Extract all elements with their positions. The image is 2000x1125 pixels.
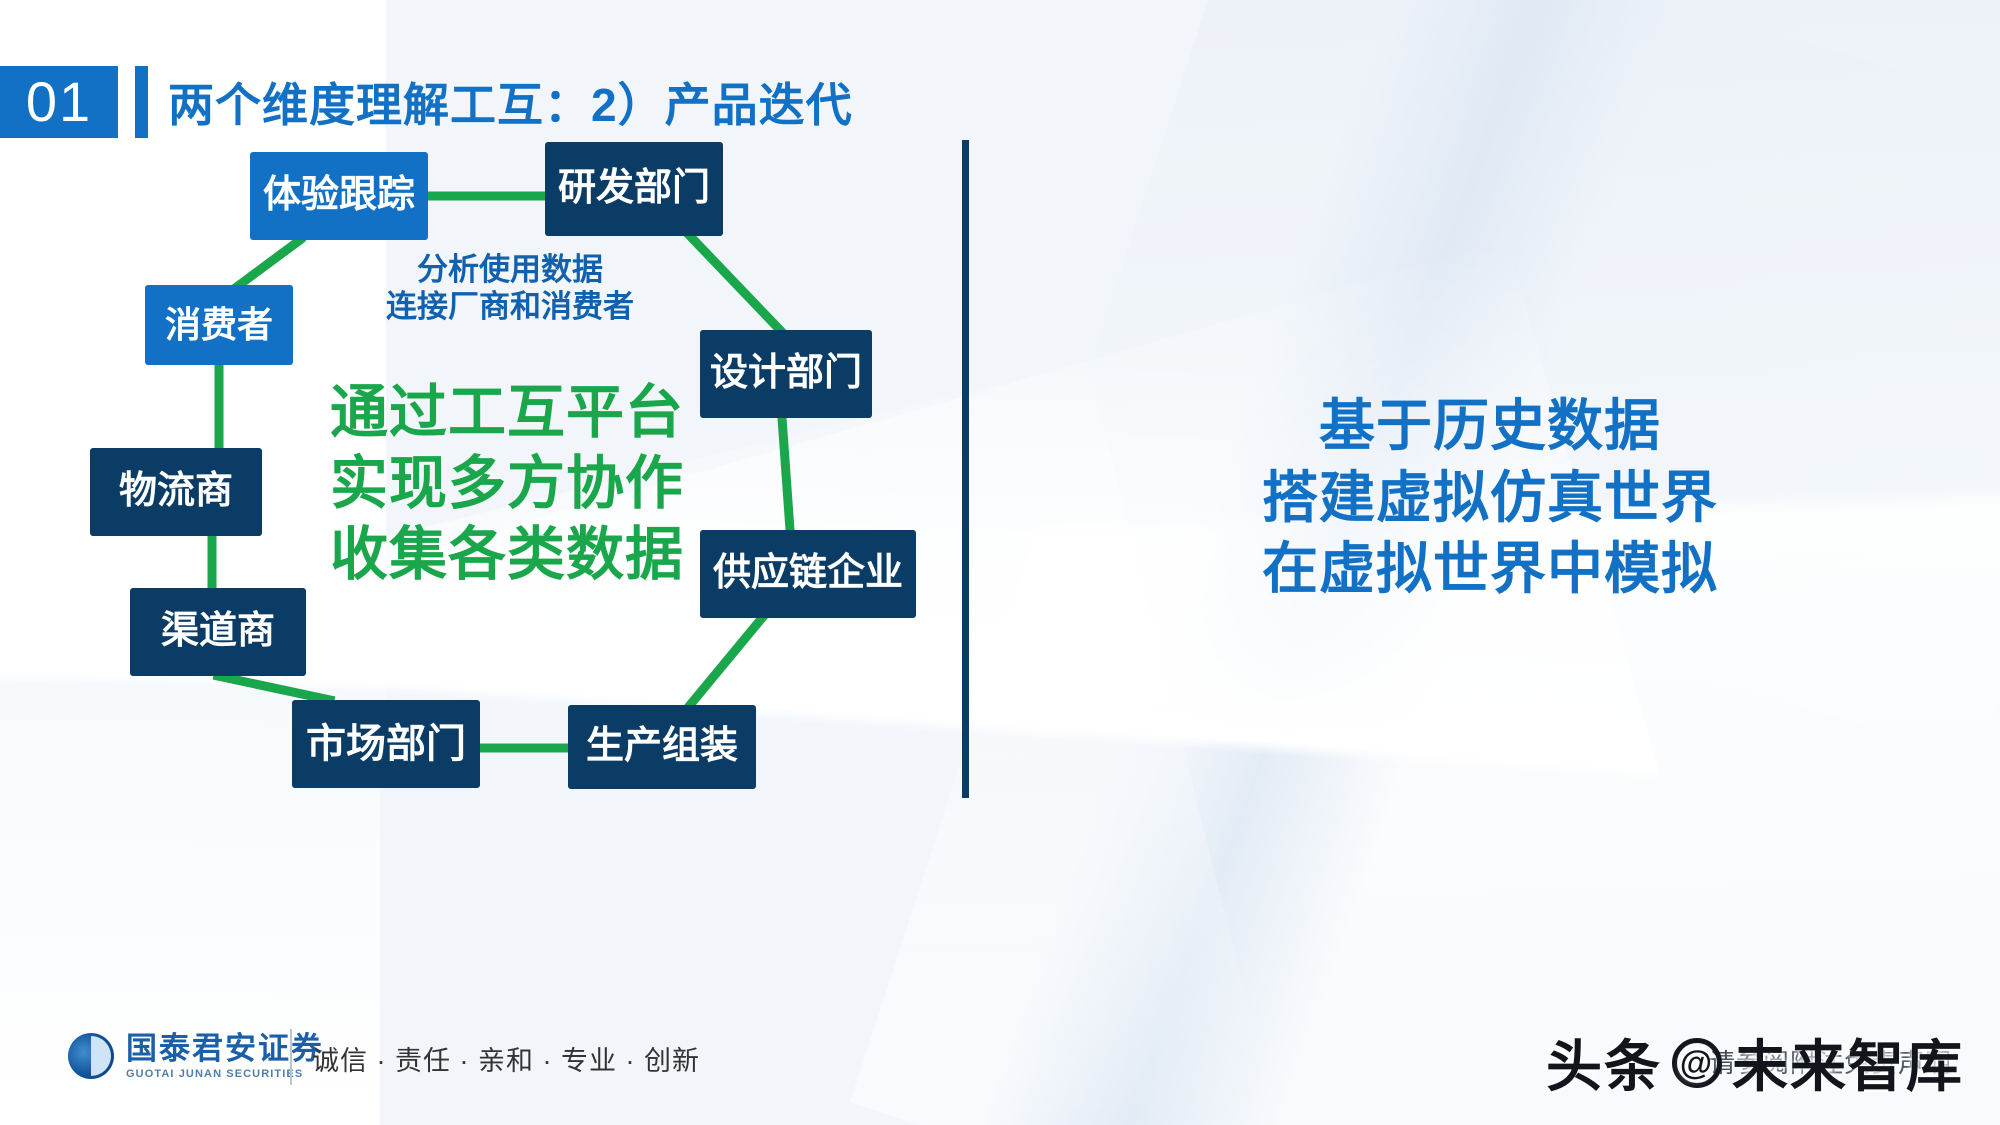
blue-note-line-0: 分析使用数据 [345,252,675,289]
edge-channel-to-market [218,676,330,700]
brand-name-cn: 国泰君安证券 [126,1033,324,1066]
diagram-node-supply-chain-enterprise[interactable]: 供应链企业 [700,530,916,618]
edge-rnd-to-design [690,236,780,330]
right-text-line-0: 基于历史数据 [1010,390,1970,462]
slide: 01 两个维度理解工互：2）产品迭代 体验跟踪研发部门消费者设计部门物流商供应链… [0,0,2000,1125]
green-note-line-0: 通过工互平台 [330,378,690,449]
footer-divider [290,1029,292,1085]
brand-logo-text: 国泰君安证券 GUOTAI JUNAN SECURITIES [126,1033,324,1080]
green-note-line-1: 实现多方协作 [330,449,690,520]
annotation-blue-note: 分析使用数据连接厂商和消费者 [345,252,675,325]
right-text-line-1: 搭建虚拟仿真世界 [1010,462,1970,534]
guotai-junan-logo-icon [68,1033,114,1079]
at-icon: @ [1672,1038,1722,1088]
diagram-node-logistics-provider[interactable]: 物流商 [90,448,262,536]
watermark-left: 头条 [1546,1022,1662,1103]
annotation-green-note: 通过工互平台实现多方协作收集各类数据 [330,378,690,590]
right-panel-text: 基于历史数据搭建虚拟仿真世界在虚拟世界中模拟 [1010,390,1970,605]
diagram-node-production-assembly[interactable]: 生产组装 [568,705,756,789]
watermark-right: 未来智库 [1732,1022,1964,1103]
footer-slogan: 诚信 · 责任 · 亲和 · 专业 · 创新 [312,1039,700,1078]
diagram-node-design-department[interactable]: 设计部门 [700,330,872,418]
watermark: 头条 @ 未来智库 [1546,1022,1964,1103]
edge-supply-to-production [690,618,762,705]
diagram-node-consumer[interactable]: 消费者 [145,285,293,365]
diagram-node-experience-tracking[interactable]: 体验跟踪 [250,152,428,240]
brand-name-en: GUOTAI JUNAN SECURITIES [126,1068,324,1080]
diagram-node-channel-provider[interactable]: 渠道商 [130,588,306,676]
diagram-node-market-department[interactable]: 市场部门 [292,700,480,788]
right-text-line-2: 在虚拟世界中模拟 [1010,533,1970,605]
edge-design-to-supply [782,418,790,530]
green-note-line-2: 收集各类数据 [330,520,690,591]
brand-logo: 国泰君安证券 GUOTAI JUNAN SECURITIES [68,1033,324,1080]
diagram-node-rnd-department[interactable]: 研发部门 [545,142,723,236]
blue-note-line-1: 连接厂商和消费者 [345,289,675,326]
